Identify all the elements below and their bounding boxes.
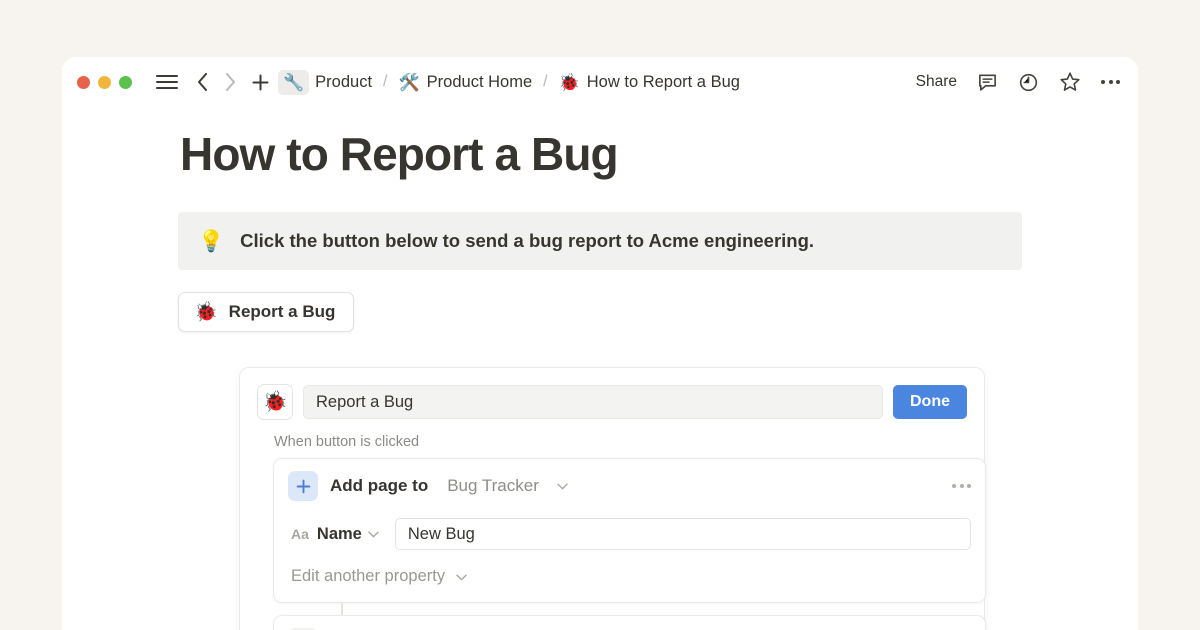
action-step-add-page[interactable]: Add page to Bug Tracker Aa Name Ne <box>273 458 986 603</box>
comment-icon[interactable] <box>977 72 998 93</box>
property-row-name: Aa Name New Bug <box>291 518 971 550</box>
wrench-icon: 🔧 <box>283 74 304 91</box>
callout-block: 💡 Click the button below to send a bug r… <box>178 212 1022 270</box>
more-options-icon[interactable] <box>1101 80 1120 84</box>
back-chevron-icon[interactable] <box>192 69 212 95</box>
action-step-menu-icon[interactable] <box>952 484 971 488</box>
edit-another-property-label: Edit another property <box>291 567 445 585</box>
share-button[interactable]: Share <box>916 73 957 91</box>
action-step-header: Add page to Bug Tracker <box>288 471 971 501</box>
new-page-plus-icon[interactable] <box>248 69 272 95</box>
property-name-label[interactable]: Name <box>317 525 362 544</box>
traffic-lights <box>77 76 132 89</box>
sidebar-toggle-icon[interactable] <box>156 75 178 89</box>
report-a-bug-button-label: Report a Bug <box>229 302 336 322</box>
header-actions: Share <box>916 71 1120 93</box>
window-titlebar: 🔧 Product / 🛠️ Product Home / 🐞 How to R… <box>62 57 1138 107</box>
trigger-label: When button is clicked <box>274 434 967 450</box>
step-connector-line <box>341 603 343 615</box>
report-a-bug-button[interactable]: 🐞 Report a Bug <box>178 292 354 332</box>
chevron-down-icon[interactable] <box>557 483 568 490</box>
breadcrumb-separator-0: / <box>383 73 387 91</box>
forward-chevron-icon[interactable] <box>220 69 240 95</box>
chevron-down-icon[interactable] <box>456 570 467 584</box>
action-step-target[interactable]: Bug Tracker <box>447 476 539 496</box>
button-editor-panel: 🐞 Report a Bug Done When button is click… <box>239 367 985 630</box>
callout-text: Click the button below to send a bug rep… <box>240 230 814 252</box>
minimize-window-button[interactable] <box>98 76 111 89</box>
ladybug-icon: 🐞 <box>194 303 218 322</box>
history-clock-icon[interactable] <box>1018 72 1039 93</box>
breadcrumb: 🔧 Product / 🛠️ Product Home / 🐞 How to R… <box>278 70 744 95</box>
done-button[interactable]: Done <box>893 385 967 419</box>
maximize-window-button[interactable] <box>119 76 132 89</box>
breadcrumb-item-1-label: Product Home <box>427 73 532 92</box>
edit-another-property-button[interactable]: Edit another property <box>291 567 971 586</box>
hammer-and-wrench-icon: 🛠️ <box>399 74 420 91</box>
property-value-input[interactable]: New Bug <box>395 518 971 550</box>
page-title: How to Report a Bug <box>180 127 1138 181</box>
close-window-button[interactable] <box>77 76 90 89</box>
button-icon-picker[interactable]: 🐞 <box>257 384 293 420</box>
breadcrumb-item-0[interactable]: Product <box>311 71 376 94</box>
breadcrumb-item-0-label: Product <box>315 73 372 92</box>
chevron-down-icon[interactable] <box>368 531 379 538</box>
ladybug-icon: 🐞 <box>263 392 288 412</box>
breadcrumb-item-0-icon[interactable]: 🔧 <box>278 70 309 95</box>
plus-icon <box>288 471 318 501</box>
ladybug-icon: 🐞 <box>559 74 580 91</box>
breadcrumb-item-1[interactable]: 🛠️ Product Home <box>395 71 537 94</box>
screenshot-root: 🔧 Product / 🛠️ Product Home / 🐞 How to R… <box>0 0 1200 630</box>
breadcrumb-item-2[interactable]: 🐞 How to Report a Bug <box>555 71 744 94</box>
text-property-type-icon: Aa <box>291 526 309 542</box>
lightbulb-icon: 💡 <box>198 231 224 252</box>
button-name-input[interactable]: Report a Bug <box>303 385 883 419</box>
button-editor-header: 🐞 Report a Bug Done <box>257 384 967 420</box>
page-content: How to Report a Bug 💡 Click the button b… <box>62 127 1138 332</box>
breadcrumb-separator-1: / <box>543 73 547 91</box>
action-step-open-page[interactable]: Open New page added <box>273 615 986 630</box>
action-step-verb: Add page to <box>330 476 428 496</box>
breadcrumb-item-2-label: How to Report a Bug <box>587 73 740 92</box>
star-icon[interactable] <box>1059 71 1081 93</box>
app-window: 🔧 Product / 🛠️ Product Home / 🐞 How to R… <box>62 57 1138 630</box>
action-steps-list: Add page to Bug Tracker Aa Name Ne <box>257 458 967 630</box>
